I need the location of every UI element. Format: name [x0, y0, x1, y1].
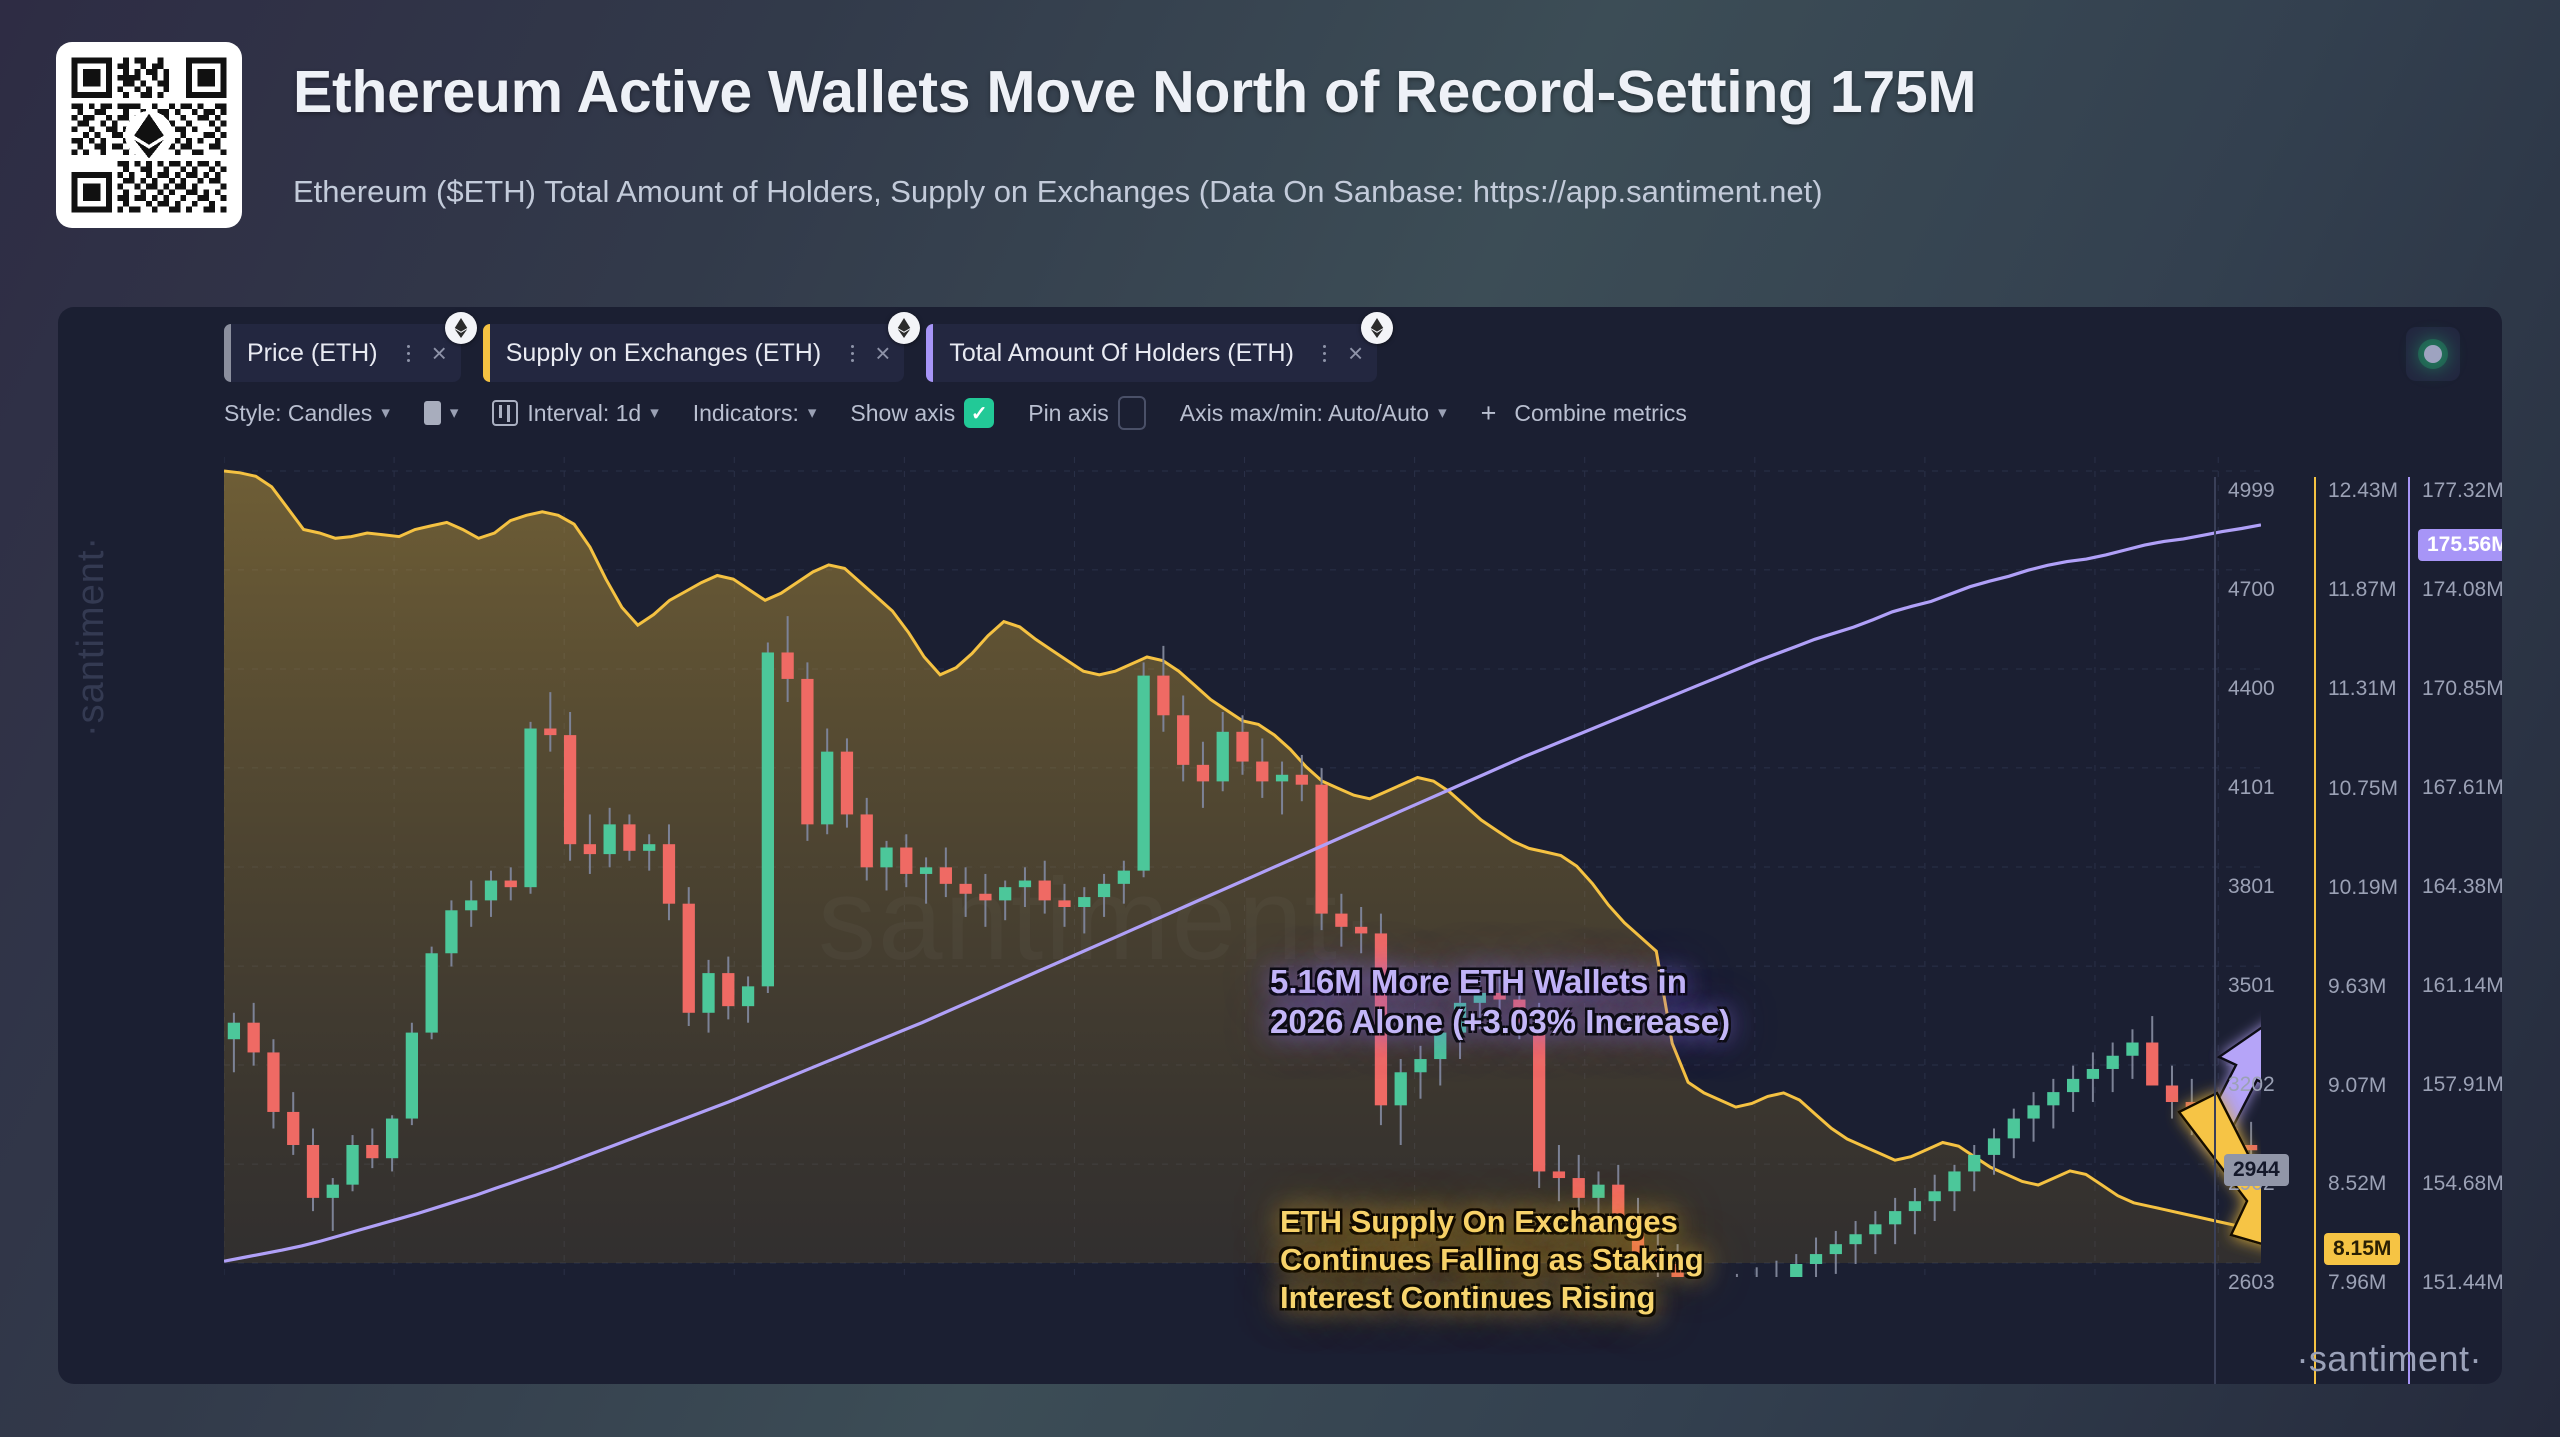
santiment-logo: ·santiment·: [2296, 1338, 2482, 1380]
supply-annotation: ETH Supply On Exchanges Continues Fallin…: [1280, 1203, 1704, 1316]
metric-tab-label: Supply on Exchanges (ETH): [506, 339, 821, 368]
axis-line: [2214, 477, 2216, 1384]
plot-area[interactable]: [224, 457, 2261, 1277]
y-axis-label: 4101: [2228, 776, 2275, 800]
kebab-icon[interactable]: [396, 345, 422, 362]
ethereum-icon: [1361, 312, 1393, 344]
y-axis-label: 3202: [2228, 1073, 2275, 1097]
y-axis-label: 2603: [2228, 1271, 2275, 1295]
close-icon[interactable]: ×: [432, 340, 447, 366]
holders-annotation: 5.16M More ETH Wallets in 2026 Alone (+3…: [1270, 962, 1730, 1043]
y-axis-label: 151.44M: [2422, 1271, 2502, 1295]
page-title: Ethereum Active Wallets Move North of Re…: [293, 58, 1976, 126]
y-axis-label: 164.38M: [2422, 875, 2502, 899]
metric-tab-label: Total Amount Of Holders (ETH): [949, 339, 1294, 368]
tab-accent-bar: [926, 324, 933, 382]
metric-tabs: Price (ETH) × Supply on Exchanges (ETH) …: [224, 324, 1399, 382]
y-axis-holders[interactable]: 177.32M174.08M170.85M167.61M164.38M161.1…: [2408, 457, 2502, 1384]
plot-svg: [224, 457, 2261, 1277]
axis-maxmin-label: Axis max/min: Auto/Auto: [1180, 400, 1429, 427]
y-axis-label: 3501: [2228, 974, 2275, 998]
interval-label: Interval: 1d: [527, 400, 641, 427]
qr-code-image: [66, 52, 232, 218]
show-axis-toggle[interactable]: Show axis ✓: [850, 398, 994, 428]
chevron-down-icon: ▾: [450, 403, 459, 423]
chevron-down-icon: ▾: [808, 403, 817, 423]
live-status-dot[interactable]: [2406, 327, 2460, 381]
style-selector[interactable]: Style: Candles ▾: [224, 400, 390, 427]
current-value-tag: 8.15M: [2324, 1233, 2400, 1265]
chevron-down-icon: ▾: [650, 403, 659, 423]
indicators-label: Indicators:: [693, 400, 799, 427]
y-axis-label: 11.87M: [2328, 578, 2397, 602]
header: Ethereum Active Wallets Move North of Re…: [0, 0, 2560, 300]
y-axis-label: 170.85M: [2422, 677, 2502, 701]
kebab-icon[interactable]: [1312, 345, 1338, 362]
y-axis-label: 154.68M: [2422, 1172, 2502, 1196]
close-icon[interactable]: ×: [875, 340, 890, 366]
y-axis-label: 4400: [2228, 677, 2275, 701]
indicators-selector[interactable]: Indicators: ▾: [693, 400, 817, 427]
y-axis-label: 9.63M: [2328, 975, 2386, 999]
color-swatch-icon: [424, 401, 441, 425]
candlestick-icon: [492, 400, 518, 426]
combine-metrics-label: Combine metrics: [1514, 400, 1687, 427]
y-axis-label: 8.52M: [2328, 1172, 2386, 1196]
watermark-vertical: ·santiment·: [70, 536, 113, 737]
color-swatch-selector[interactable]: ▾: [424, 401, 459, 425]
y-axis-label: 177.32M: [2422, 479, 2502, 503]
axis-line: [2408, 477, 2410, 1384]
y-axis-label: 10.19M: [2328, 876, 2398, 900]
show-axis-label: Show axis: [850, 400, 955, 427]
checkbox-unchecked-icon[interactable]: [1118, 396, 1146, 430]
page-subtitle: Ethereum ($ETH) Total Amount of Holders,…: [293, 174, 1823, 210]
y-axis-label: 4700: [2228, 578, 2275, 602]
chevron-down-icon: ▾: [381, 403, 390, 423]
chevron-down-icon: ▾: [1438, 403, 1447, 423]
metric-tab-holders[interactable]: Total Amount Of Holders (ETH) ×: [926, 324, 1377, 382]
axis-maxmin-selector[interactable]: Axis max/min: Auto/Auto ▾: [1180, 400, 1447, 427]
chart-controls: Style: Candles ▾ ▾ Interval: 1d ▾ Indica…: [224, 393, 1721, 433]
plus-icon: +: [1481, 398, 1497, 429]
metric-tab-price[interactable]: Price (ETH) ×: [224, 324, 461, 382]
qr-code: [56, 42, 242, 228]
tab-accent-bar: [224, 324, 231, 382]
chart-panel: Price (ETH) × Supply on Exchanges (ETH) …: [58, 307, 2502, 1384]
y-axis-label: 9.07M: [2328, 1074, 2386, 1098]
interval-selector[interactable]: Interval: 1d ▾: [492, 400, 658, 427]
y-axis-label: 4999: [2228, 479, 2275, 503]
y-axis-label: 174.08M: [2422, 578, 2502, 602]
current-value-tag: 175.56M: [2418, 529, 2502, 561]
y-axis-label: 11.31M: [2328, 677, 2397, 701]
pin-axis-toggle[interactable]: Pin axis: [1028, 396, 1146, 430]
pin-axis-label: Pin axis: [1028, 400, 1109, 427]
style-label: Style: Candles: [224, 400, 372, 427]
y-axis-label: 12.43M: [2328, 479, 2398, 503]
axis-line: [2314, 477, 2316, 1384]
close-icon[interactable]: ×: [1348, 340, 1363, 366]
y-axis-label: 7.96M: [2328, 1271, 2386, 1295]
ethereum-icon: [888, 312, 920, 344]
tab-accent-bar: [483, 324, 490, 382]
y-axis-label: 10.75M: [2328, 777, 2398, 801]
combine-metrics-button[interactable]: + Combine metrics: [1481, 398, 1687, 429]
metric-tab-label: Price (ETH): [247, 339, 378, 368]
y-axis-label: 167.61M: [2422, 776, 2502, 800]
ethereum-icon: [445, 312, 477, 344]
y-axis-label: 157.91M: [2422, 1073, 2502, 1097]
checkbox-checked-icon[interactable]: ✓: [964, 398, 994, 428]
metric-tab-supply[interactable]: Supply on Exchanges (ETH) ×: [483, 324, 905, 382]
y-axis-label: 3801: [2228, 875, 2275, 899]
kebab-icon[interactable]: [839, 345, 865, 362]
y-axis-label: 161.14M: [2422, 974, 2502, 998]
current-value-tag: 2944: [2224, 1154, 2289, 1186]
